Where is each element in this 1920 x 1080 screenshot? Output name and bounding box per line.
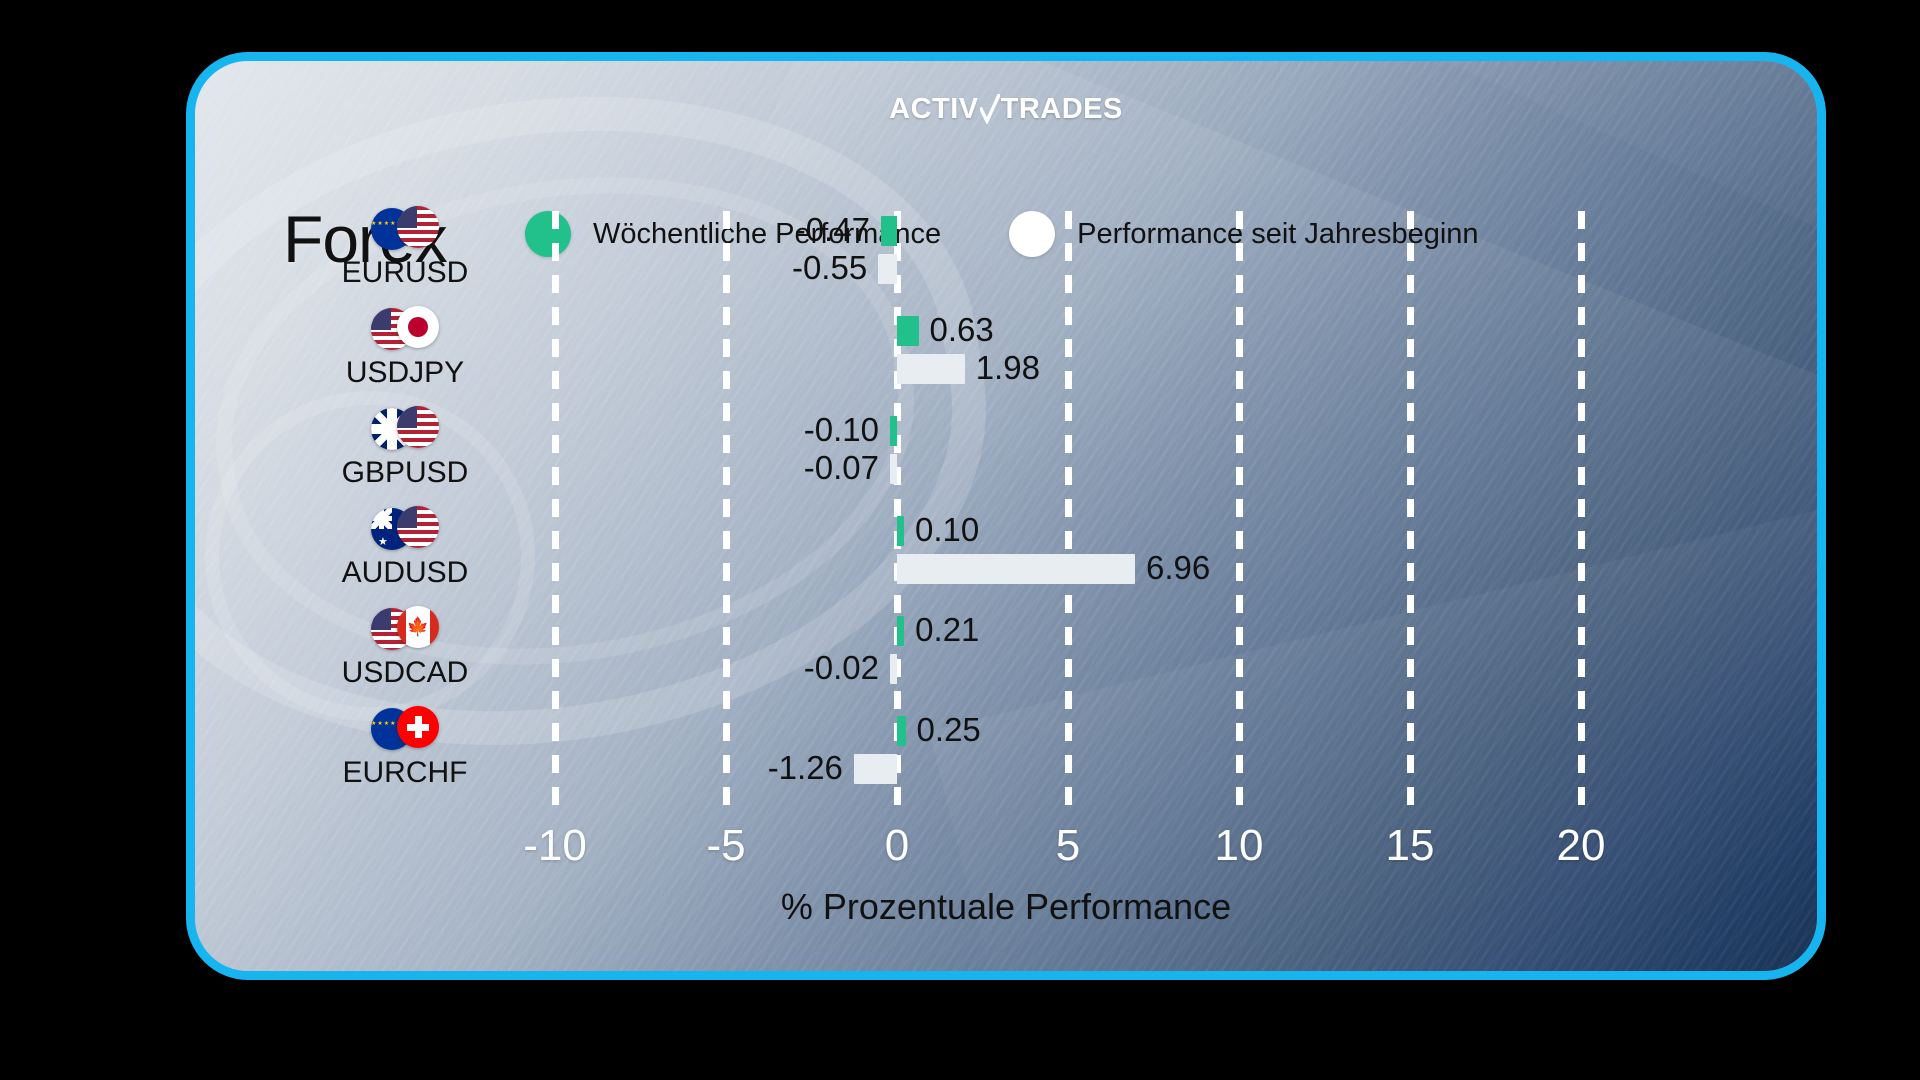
flag-pair-usdjpy [255,306,555,352]
value-label-ytd-usdjpy: 1.98 [976,353,1040,383]
bar-weekly-audusd[interactable] [897,516,904,546]
x-tick-label-10: 10 [1215,821,1264,871]
bar-ytd-eurusd[interactable] [878,254,897,284]
flag-icon-ca [397,606,439,648]
category-label: USDCAD [255,656,555,690]
x-tick-label-5: 5 [1056,821,1080,871]
chart-plot-area: -10-505101520EURUSD-0.47-0.55USDJPY0.631… [195,61,1817,971]
forex-performance-card: ACTIVTRADES Forex Wöchentliche Performan… [186,52,1826,980]
bar-ytd-usdjpy[interactable] [897,354,965,384]
chart-row: USDJPY0.631.98 [195,316,1817,416]
value-label-ytd-eurusd: -0.55 [792,253,867,283]
value-label-ytd-usdcad: -0.02 [804,653,879,683]
chart-row: USDCAD0.21-0.02 [195,616,1817,716]
category-label: AUDUSD [255,556,555,590]
value-label-weekly-eurusd: -0.47 [795,215,870,245]
flag-pair-usdcad [255,606,555,652]
flag-icon-us [397,506,439,548]
flag-pair-audusd [255,506,555,552]
x-tick-label--5: -5 [706,821,745,871]
bar-ytd-usdcad[interactable] [890,654,897,684]
value-label-ytd-eurchf: -1.26 [768,753,843,783]
flag-pair-eurchf [255,706,555,752]
bar-weekly-usdcad[interactable] [897,616,904,646]
flag-icon-us [397,206,439,248]
chart-row: EURUSD-0.47-0.55 [195,216,1817,316]
flag-icon-us [397,406,439,448]
x-tick-label--10: -10 [523,821,587,871]
bar-weekly-eurusd[interactable] [881,216,897,246]
bar-weekly-usdjpy[interactable] [897,316,919,346]
value-label-weekly-gbpusd: -0.10 [804,415,879,445]
flag-icon-ch [397,706,439,748]
category-usdjpy: USDJPY [255,306,555,390]
bar-weekly-gbpusd[interactable] [890,416,897,446]
category-gbpusd: GBPUSD [255,406,555,490]
x-tick-label-20: 20 [1557,821,1606,871]
bar-ytd-gbpusd[interactable] [890,454,897,484]
value-label-ytd-audusd: 6.96 [1146,553,1210,583]
screenshot-root: ACTIVTRADES Forex Wöchentliche Performan… [0,0,1920,1080]
value-label-weekly-audusd: 0.10 [915,515,979,545]
x-axis-label: % Prozentuale Performance [195,886,1817,928]
bar-ytd-eurchf[interactable] [854,754,897,784]
flag-icon-jp [397,306,439,348]
chart-row: AUDUSD0.106.96 [195,516,1817,616]
flag-pair-eurusd [255,206,555,252]
category-audusd: AUDUSD [255,506,555,590]
value-label-weekly-eurchf: 0.25 [917,715,981,745]
bar-weekly-eurchf[interactable] [897,716,906,746]
chart-row: EURCHF0.25-1.26 [195,716,1817,816]
category-eurchf: EURCHF [255,706,555,790]
category-eurusd: EURUSD [255,206,555,290]
value-label-weekly-usdjpy: 0.63 [930,315,994,345]
category-usdcad: USDCAD [255,606,555,690]
x-tick-label-15: 15 [1386,821,1435,871]
category-label: EURCHF [255,756,555,790]
x-tick-label-0: 0 [885,821,909,871]
value-label-ytd-gbpusd: -0.07 [804,453,879,483]
value-label-weekly-usdcad: 0.21 [915,615,979,645]
flag-pair-gbpusd [255,406,555,452]
bar-ytd-audusd[interactable] [897,554,1135,584]
chart-row: GBPUSD-0.10-0.07 [195,416,1817,516]
category-label: GBPUSD [255,456,555,490]
category-label: USDJPY [255,356,555,390]
category-label: EURUSD [255,256,555,290]
